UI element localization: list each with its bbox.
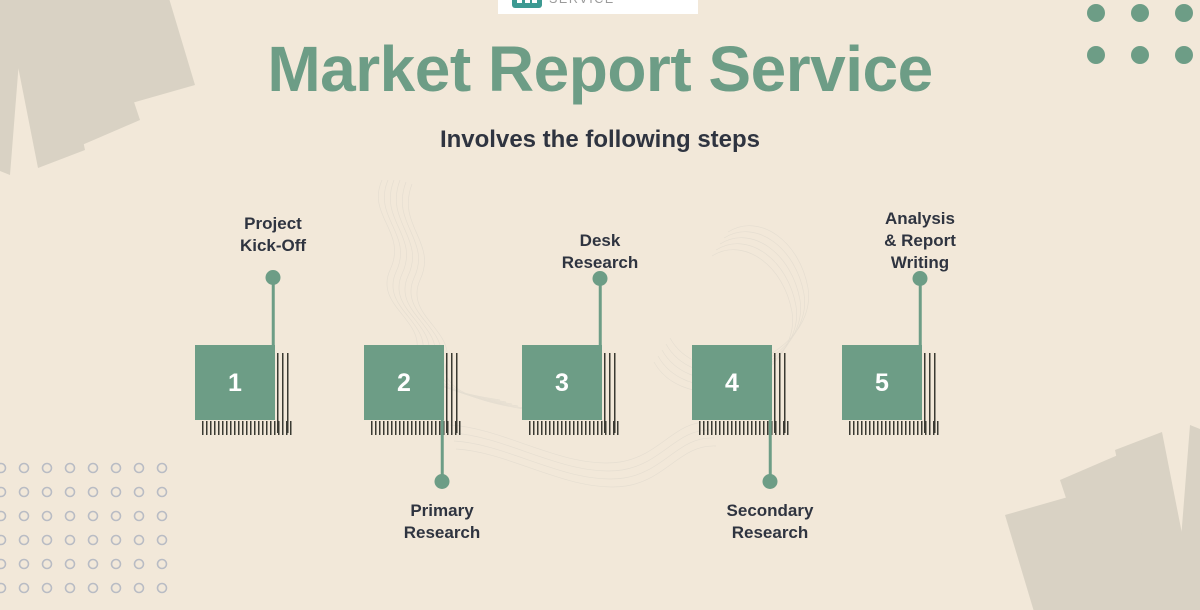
step-5-label: Analysis & Report Writing bbox=[820, 208, 1020, 273]
step-2-connector-stem bbox=[441, 420, 444, 480]
step-3-number: 3 bbox=[555, 371, 569, 396]
step-1-box[interactable]: 1 bbox=[195, 345, 275, 420]
step-4-connector-stem bbox=[769, 420, 772, 480]
step-1-hatch-bottom bbox=[202, 421, 292, 435]
step-3-hatch-bottom bbox=[529, 421, 619, 435]
step-1-label: Project Kick-Off bbox=[173, 213, 373, 257]
step-2-connector bbox=[342, 420, 542, 505]
step-4-connector-dot bbox=[763, 474, 778, 489]
step-5-hatch-bottom bbox=[849, 421, 939, 435]
step-4-number: 4 bbox=[725, 371, 739, 396]
step-2-box[interactable]: 2 bbox=[364, 345, 444, 420]
step-1-number: 1 bbox=[228, 371, 242, 396]
step-3-box[interactable]: 3 bbox=[522, 345, 602, 420]
step-4-connector bbox=[670, 420, 870, 505]
step-2-label: Primary Research bbox=[342, 500, 542, 544]
step-4-box[interactable]: 4 bbox=[692, 345, 772, 420]
step-5-box[interactable]: 5 bbox=[842, 345, 922, 420]
step-1-connector-stem bbox=[272, 277, 275, 355]
step-2-number: 2 bbox=[397, 371, 411, 396]
step-3-connector bbox=[500, 271, 700, 351]
step-2-connector-dot bbox=[435, 474, 450, 489]
step-5-connector-stem bbox=[919, 278, 922, 355]
step-5-connector bbox=[820, 271, 1020, 351]
step-3-connector-stem bbox=[599, 278, 602, 355]
step-1-connector bbox=[173, 270, 373, 350]
step-5-number: 5 bbox=[875, 371, 889, 396]
step-1-box-wrap: 1 bbox=[195, 345, 300, 440]
process-steps: Project Kick-Off 1 2 Primary bbox=[0, 0, 1200, 600]
step-4-label: Secondary Research bbox=[670, 500, 870, 544]
step-3-box-wrap: 3 bbox=[522, 345, 627, 440]
step-5-box-wrap: 5 bbox=[842, 345, 947, 440]
step-3-label: Desk Research bbox=[500, 230, 700, 274]
